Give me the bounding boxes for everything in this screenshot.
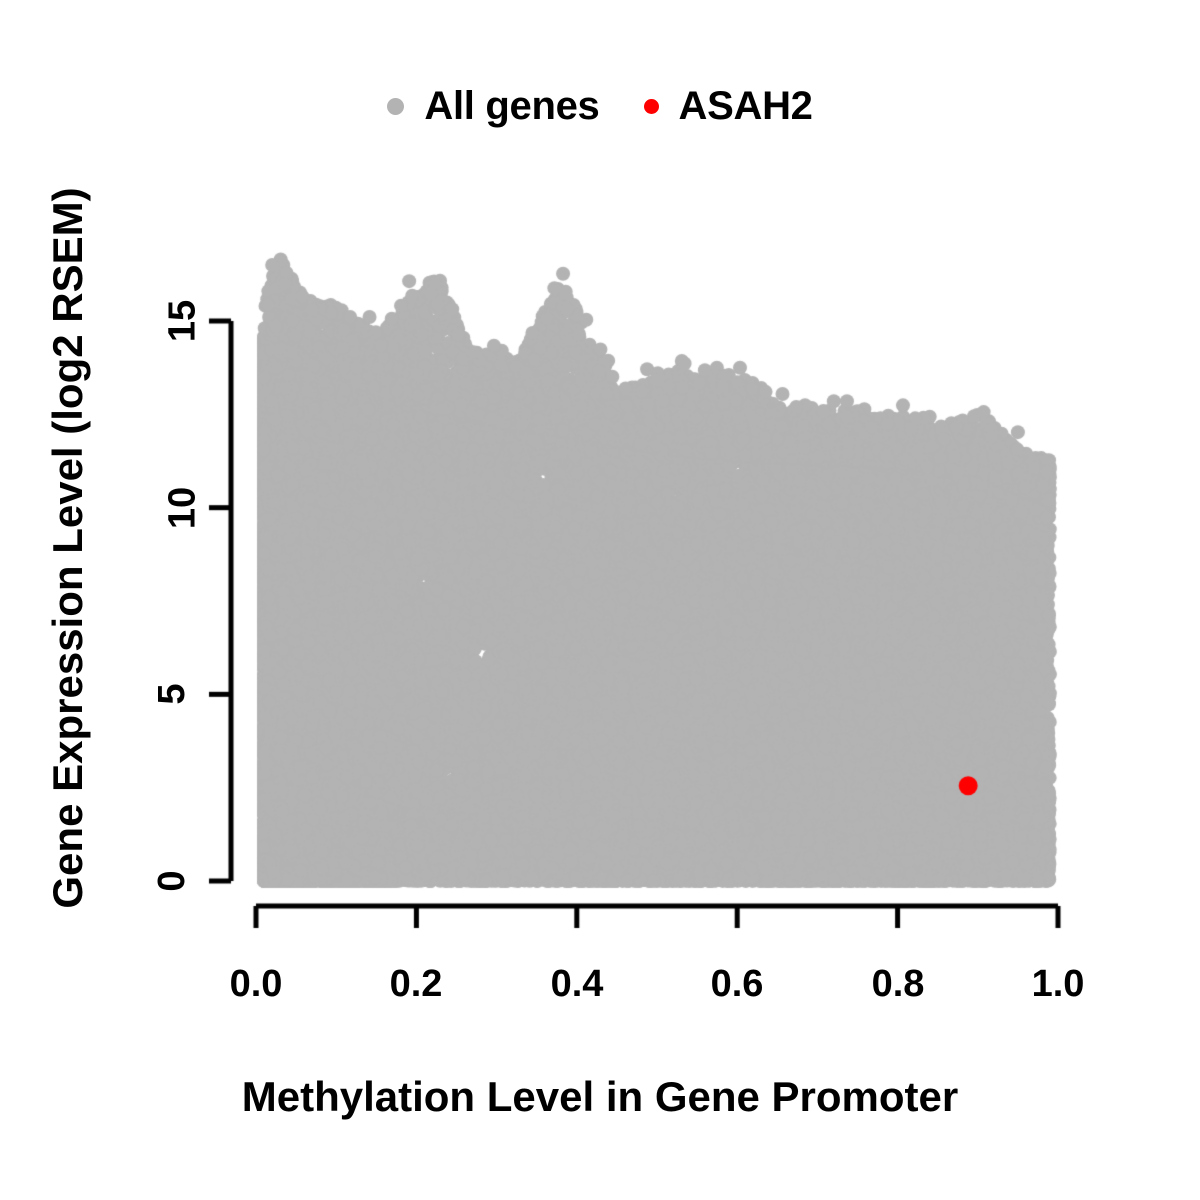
scatter-plot-canvas: [0, 0, 1200, 1200]
legend-label-asah2: ASAH2: [679, 84, 813, 129]
legend-label-all-genes: All genes: [424, 84, 599, 129]
x-tick-label-4: 0.8: [872, 963, 925, 1006]
x-tick-label-5: 1.0: [1032, 963, 1085, 1006]
scatter-plot-figure: All genes ASAH2 Gene Expression Level (l…: [0, 0, 1200, 1200]
x-tick-label-2: 0.4: [551, 963, 604, 1006]
y-tick-label-1: 5: [151, 683, 194, 704]
y-tick-label-0: 0: [151, 870, 194, 891]
red-dot-icon: [644, 99, 659, 114]
y-tick-label-3: 15: [162, 300, 205, 342]
legend-item-asah2: ASAH2: [644, 84, 813, 129]
y-tick-label-2: 10: [162, 487, 205, 529]
gray-dot-icon: [387, 98, 404, 115]
x-axis-label: Methylation Level in Gene Promoter: [0, 1073, 1200, 1121]
legend-item-all-genes: All genes: [387, 84, 599, 129]
x-tick-label-3: 0.6: [711, 963, 764, 1006]
y-axis-label: Gene Expression Level (log2 RSEM): [44, 148, 92, 948]
x-tick-label-1: 0.2: [390, 963, 443, 1006]
x-tick-label-0: 0.0: [230, 963, 283, 1006]
legend: All genes ASAH2: [0, 78, 1200, 134]
